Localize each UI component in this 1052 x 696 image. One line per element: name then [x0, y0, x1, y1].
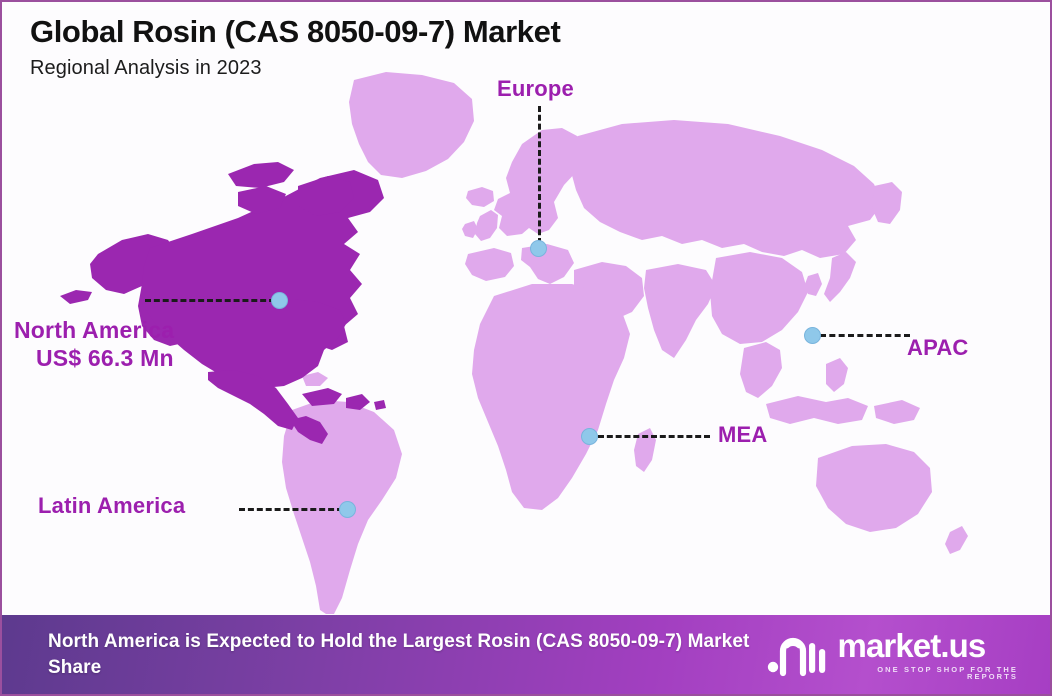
british-isles-shape	[475, 210, 498, 241]
banner-headline: North America is Expected to Hold the La…	[48, 629, 765, 679]
market-us-logo-icon	[765, 633, 827, 677]
iceland-shape	[466, 187, 494, 207]
region-label-mea: MEA	[718, 422, 768, 449]
market-us-logo[interactable]: market.us ONE STOP SHOP FOR THE REPORTS	[765, 629, 1029, 681]
leader-line-europe	[538, 106, 541, 244]
new-guinea-shape	[874, 400, 920, 424]
north-asia-shape	[570, 120, 882, 258]
region-label-north-america-name: North America	[14, 317, 174, 343]
page-subtitle: Regional Analysis in 2023	[30, 57, 560, 80]
africa-shape	[472, 284, 630, 510]
kamchatka-shape	[872, 182, 902, 224]
region-label-europe: Europe	[497, 76, 574, 103]
market-us-logo-text: market.us ONE STOP SHOP FOR THE REPORTS	[838, 629, 1019, 681]
page-title: Global Rosin (CAS 8050-09-7) Market	[30, 14, 560, 50]
australia-shape	[816, 444, 932, 532]
region-label-north-america: North America US$ 66.3 Mn	[14, 316, 174, 372]
leader-line-north-america	[145, 299, 275, 302]
base-regions	[282, 72, 968, 614]
logo-wordmark: market.us	[838, 629, 1019, 662]
leader-line-apac	[820, 334, 910, 337]
indonesia-shape	[766, 396, 868, 424]
logo-tagline: ONE STOP SHOP FOR THE REPORTS	[838, 666, 1019, 681]
hispaniola-shape	[346, 394, 370, 410]
italy-balkans-shape	[521, 244, 574, 284]
leader-line-latin-america	[239, 508, 343, 511]
aleutians-shape	[60, 290, 92, 304]
philippines-shape	[826, 358, 848, 392]
region-value-north-america: US$ 66.3 Mn	[14, 344, 174, 372]
marker-latin-america[interactable]	[339, 501, 356, 518]
marker-europe[interactable]	[530, 240, 547, 257]
greenland-shape	[349, 72, 474, 178]
east-asia-shape	[710, 252, 808, 344]
arctic-islands-shape	[228, 162, 294, 188]
new-zealand-shape	[945, 526, 968, 554]
puerto-rico-shape	[374, 400, 386, 410]
iberia-shape	[465, 248, 514, 281]
south-asia-shape	[644, 264, 716, 358]
region-label-latin-america: Latin America	[38, 493, 185, 520]
regional-analysis-infographic: Global Rosin (CAS 8050-09-7) Market Regi…	[0, 0, 1052, 696]
bottom-banner: North America is Expected to Hold the La…	[2, 615, 1052, 694]
southeast-asia-shape	[740, 342, 782, 398]
region-label-apac: APAC	[907, 335, 969, 362]
header: Global Rosin (CAS 8050-09-7) Market Regi…	[30, 14, 560, 80]
marker-mea[interactable]	[581, 428, 598, 445]
marker-apac[interactable]	[804, 327, 821, 344]
japan-shape	[824, 252, 856, 302]
leader-line-mea	[598, 435, 710, 438]
ireland-shape	[462, 221, 478, 238]
marker-north-america[interactable]	[271, 292, 288, 309]
